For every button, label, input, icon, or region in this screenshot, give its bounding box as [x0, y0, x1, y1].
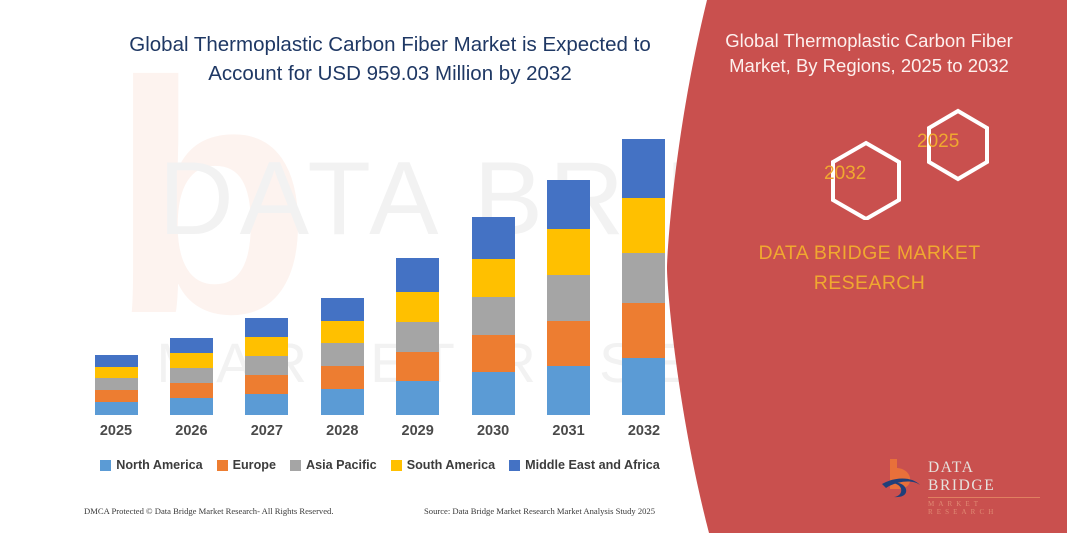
bar-segment: [547, 275, 590, 321]
footer-source: Source: Data Bridge Market Research Mark…: [424, 506, 655, 516]
bar-segment: [245, 337, 288, 356]
legend-swatch-icon: [509, 460, 520, 471]
bar-column: [457, 217, 529, 415]
bar-segment: [472, 335, 515, 372]
bar-segment: [396, 352, 439, 381]
bar-segment: [622, 139, 665, 198]
bar-segment: [95, 378, 138, 390]
bar-segment: [396, 322, 439, 352]
chart-legend: North AmericaEuropeAsia PacificSouth Ame…: [80, 455, 680, 475]
bar-segment: [472, 372, 515, 415]
legend-swatch-icon: [217, 460, 228, 471]
bar-segment: [321, 343, 364, 366]
bar-column: [80, 355, 152, 415]
bar-segment: [472, 259, 515, 297]
page-title: Global Thermoplastic Carbon Fiber Market…: [110, 30, 670, 88]
legend-label: South America: [407, 458, 495, 472]
bar-segment: [95, 390, 138, 402]
bar-segment: [245, 394, 288, 415]
x-axis-tick-label: 2025: [80, 423, 152, 445]
bar-column: [306, 298, 378, 415]
right-red-panel: Global Thermoplastic Carbon Fiber Market…: [667, 0, 1067, 533]
stacked-bar[interactable]: [245, 318, 288, 415]
bar-segment: [321, 321, 364, 343]
bar-segment: [547, 180, 590, 229]
year-hexagons: 2025 2032: [762, 105, 1022, 220]
x-axis-tick-label: 2026: [155, 423, 227, 445]
stacked-bar[interactable]: [321, 298, 364, 415]
red-panel-title-line-1: Global Thermoplastic Carbon Fiber: [689, 28, 1049, 53]
bar-segment: [170, 338, 213, 353]
bar-segment: [321, 366, 364, 389]
legend-label: Europe: [233, 458, 276, 472]
red-panel-brand: DATA BRIDGE MARKET RESEARCH: [697, 238, 1042, 298]
hex-label-start-year: 2025: [917, 131, 959, 153]
stacked-bar[interactable]: [547, 180, 590, 415]
legend-label: Asia Pacific: [306, 458, 377, 472]
bar-segment: [170, 368, 213, 383]
logo-divider: [928, 497, 1040, 498]
page-title-line-2: Account for USD 959.03 Million by 2032: [110, 59, 670, 88]
stacked-bar[interactable]: [95, 355, 138, 415]
red-panel-title: Global Thermoplastic Carbon Fiber Market…: [689, 28, 1049, 78]
data-bridge-logo: DATA BRIDGE MARKET RESEARCH: [880, 455, 1045, 503]
bar-segment: [622, 198, 665, 253]
bar-segment: [245, 375, 288, 394]
bar-segment: [170, 353, 213, 368]
infographic-root: b DATA BRIDGE MARKET RESEARCH Global The…: [0, 0, 1067, 533]
bar-segment: [547, 229, 590, 275]
red-panel-title-line-2: Market, By Regions, 2025 to 2032: [689, 53, 1049, 78]
legend-swatch-icon: [100, 460, 111, 471]
red-panel-brand-line-2: RESEARCH: [697, 268, 1042, 298]
stacked-bar[interactable]: [622, 139, 665, 415]
legend-swatch-icon: [290, 460, 301, 471]
bar-segment: [321, 389, 364, 415]
stacked-bar[interactable]: [396, 258, 439, 415]
legend-item[interactable]: Middle East and Africa: [509, 458, 660, 472]
bar-segment: [95, 367, 138, 378]
bar-segment: [245, 318, 288, 337]
legend-item[interactable]: North America: [100, 458, 202, 472]
bar-segment: [547, 366, 590, 415]
chart-x-axis: 20252026202720282029203020312032: [80, 423, 680, 445]
bar-segment: [472, 297, 515, 335]
bar-column: [231, 318, 303, 415]
bar-segment: [472, 217, 515, 259]
stacked-bar[interactable]: [472, 217, 515, 415]
logo-mark-icon: [880, 455, 926, 501]
legend-item[interactable]: Europe: [217, 458, 276, 472]
bar-segment: [170, 383, 213, 398]
legend-swatch-icon: [391, 460, 402, 471]
bar-segment: [396, 292, 439, 322]
legend-label: Middle East and Africa: [525, 458, 660, 472]
bar-segment: [396, 381, 439, 415]
legend-label: North America: [116, 458, 202, 472]
bar-column: [382, 258, 454, 415]
hexagon-outlines-icon: [762, 105, 1022, 220]
x-axis-tick-label: 2028: [306, 423, 378, 445]
bar-segment: [95, 402, 138, 415]
logo-name-line-2: MARKET RESEARCH: [928, 500, 1045, 516]
stacked-bar[interactable]: [170, 338, 213, 415]
x-axis-tick-label: 2030: [457, 423, 529, 445]
bar-segment: [547, 321, 590, 366]
x-axis-tick-label: 2027: [231, 423, 303, 445]
x-axis-tick-label: 2031: [533, 423, 605, 445]
chart-plot-area: [80, 113, 680, 415]
red-panel-brand-line-1: DATA BRIDGE MARKET: [697, 238, 1042, 268]
bar-segment: [622, 358, 665, 415]
bar-segment: [170, 398, 213, 415]
bar-segment: [622, 253, 665, 303]
bar-segment: [321, 298, 364, 321]
hex-label-end-year: 2032: [824, 163, 866, 185]
legend-item[interactable]: Asia Pacific: [290, 458, 377, 472]
bar-segment: [245, 356, 288, 375]
bar-segment: [622, 303, 665, 358]
bar-column: [155, 338, 227, 415]
footer-copyright: DMCA Protected © Data Bridge Market Rese…: [84, 506, 334, 516]
red-panel-content: Global Thermoplastic Carbon Fiber Market…: [667, 0, 1067, 533]
logo-name-line-1: DATA BRIDGE: [928, 459, 1045, 495]
legend-item[interactable]: South America: [391, 458, 495, 472]
page-title-line-1: Global Thermoplastic Carbon Fiber Market…: [110, 30, 670, 59]
bar-segment: [95, 355, 138, 367]
bar-column: [533, 180, 605, 415]
x-axis-tick-label: 2029: [382, 423, 454, 445]
bar-segment: [396, 258, 439, 292]
logo-wordmark: DATA BRIDGE MARKET RESEARCH: [928, 459, 1045, 516]
footer: DMCA Protected © Data Bridge Market Rese…: [84, 506, 684, 526]
stacked-bar-chart: [80, 110, 680, 415]
